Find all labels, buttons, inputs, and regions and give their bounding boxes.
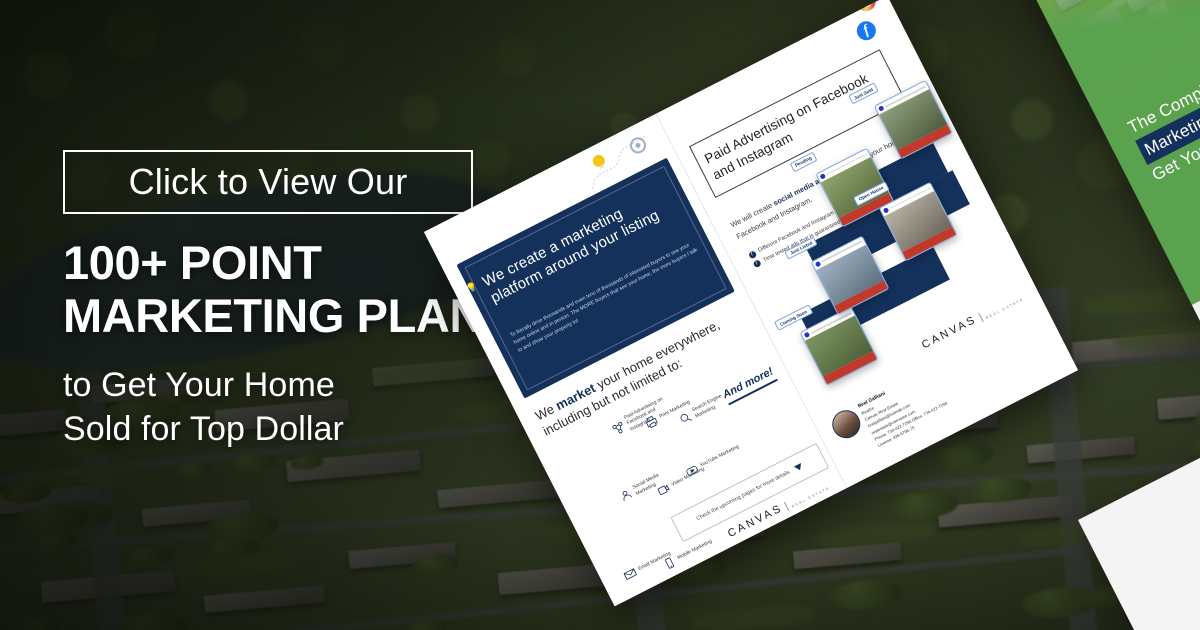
logo-divider [978, 313, 983, 322]
channel-label: Mobile Marketing [677, 539, 714, 562]
card-avatar [814, 261, 821, 268]
facebook-icon [854, 18, 880, 44]
email-icon [622, 565, 639, 582]
triangle-down-icon [794, 463, 804, 472]
card-avatar [878, 106, 885, 113]
click-to-view-button[interactable]: Click to View Our [63, 150, 473, 214]
callout-title: We create a marketing platform around yo… [480, 182, 680, 308]
canvas-logo-right: CANVAS REAL ESTATE [920, 290, 1025, 351]
agent-office: Office: 734-422-7258 [911, 400, 948, 422]
agent-avatar [827, 405, 865, 443]
agent-details: Real Galliani Realtor Canvas Real Estate… [856, 366, 951, 449]
channel-label: YouTube Marketing [699, 444, 740, 469]
bullet-marker-icon: f [752, 260, 761, 269]
channel-item: YouTube Marketing [683, 441, 741, 479]
logo-divider [784, 502, 789, 511]
network-icon [610, 420, 627, 437]
card-avatar [883, 207, 890, 214]
promo-banner: Click to View Our 100+ POINT MARKETING P… [0, 0, 1200, 630]
logo-name: CANVAS [920, 313, 979, 351]
cta-label: Click to View Our [129, 161, 408, 203]
social-media-icon [617, 487, 634, 504]
logo-subtitle: REAL ESTATE [985, 297, 1025, 320]
cover-footer: Copyright of this material is not a soli… [1192, 175, 1200, 328]
lightbulb-icon: 💡 [465, 280, 480, 295]
